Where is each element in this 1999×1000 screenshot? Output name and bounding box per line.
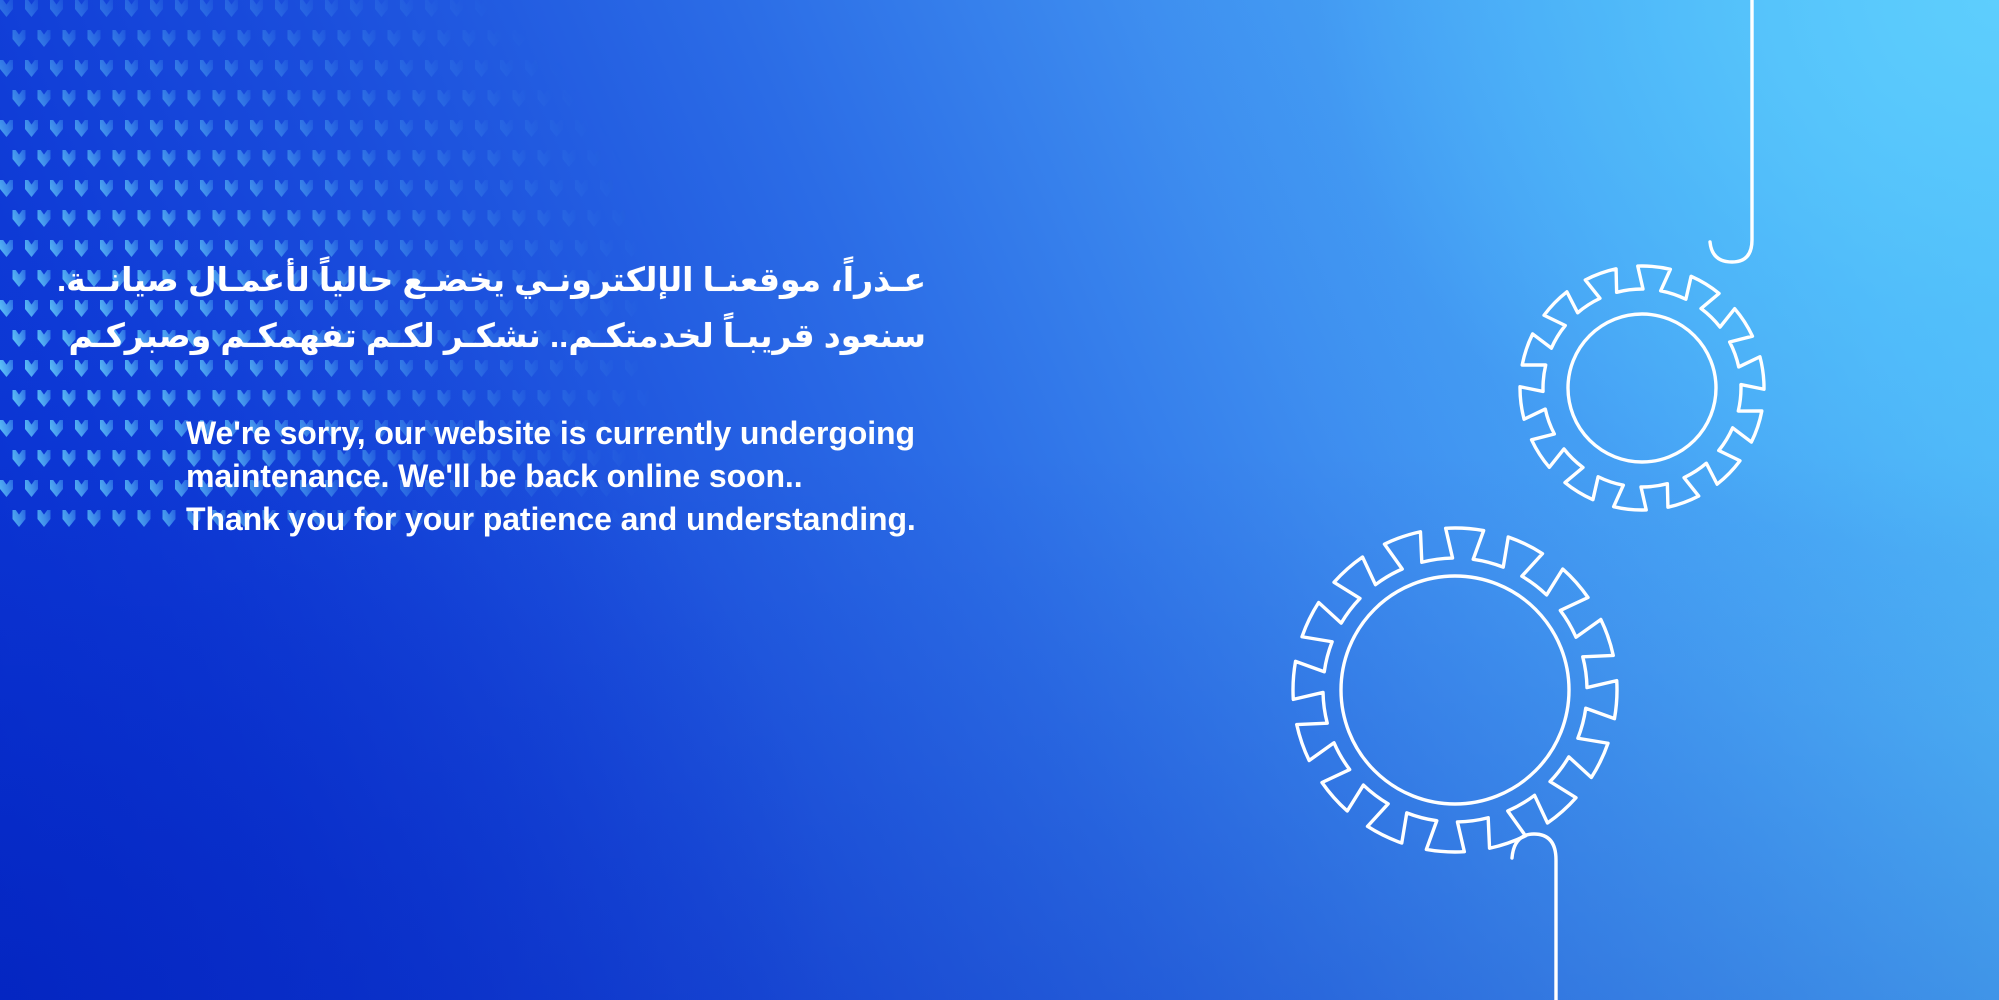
arabic-message-line-1: عـذراً، موقعنـا الإلكترونـي يخضـع حالياً… bbox=[186, 252, 926, 308]
english-message: We're sorry, our website is currently un… bbox=[186, 412, 1166, 541]
english-message-line-3: Thank you for your patience and understa… bbox=[186, 498, 1166, 541]
arabic-message: عـذراً، موقعنـا الإلكترونـي يخضـع حالياً… bbox=[186, 252, 926, 364]
arabic-message-line-2: سنعود قريبـاً لخدمتكـم.. نشكـر لكـم تفهم… bbox=[186, 308, 926, 364]
maintenance-page: عـذراً، موقعنـا الإلكترونـي يخضـع حالياً… bbox=[0, 0, 1999, 1000]
maintenance-message: عـذراً، موقعنـا الإلكترونـي يخضـع حالياً… bbox=[186, 252, 1166, 541]
english-message-line-1: We're sorry, our website is currently un… bbox=[186, 412, 1166, 455]
english-message-line-2: maintenance. We'll be back online soon.. bbox=[186, 455, 1166, 498]
